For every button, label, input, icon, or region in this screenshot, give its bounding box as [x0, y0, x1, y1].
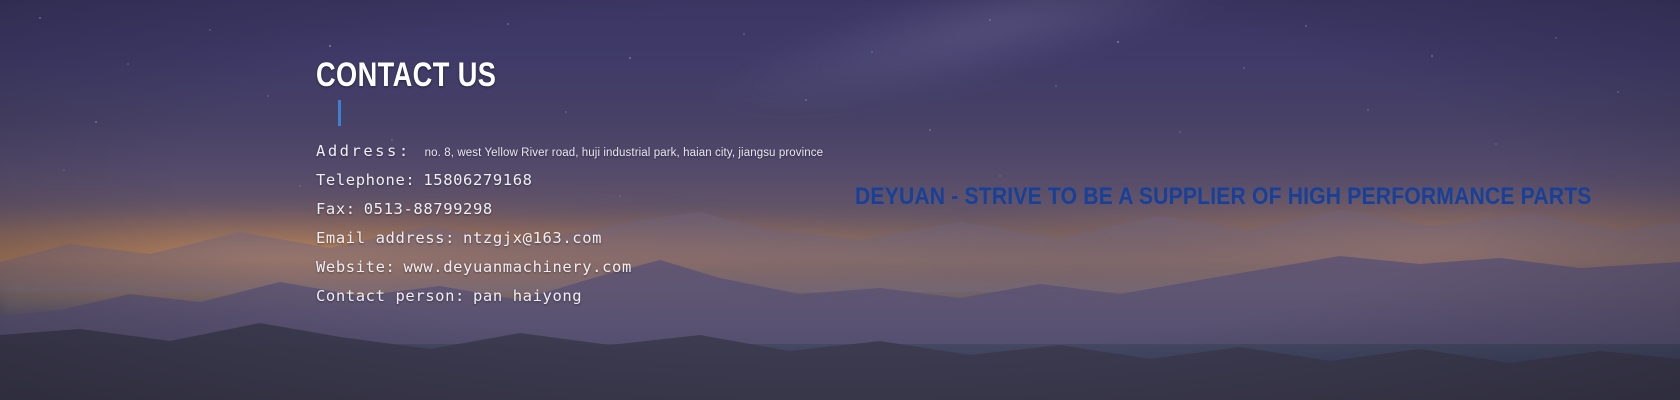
contact-value-website[interactable]: www.deyuanmachinery.com [403, 258, 631, 276]
contact-row-email: Email address: ntzgjx@163.com [316, 229, 823, 258]
contact-row-address: Address: no. 8, west Yellow River road, … [316, 142, 823, 171]
contact-info-list: Address: no. 8, west Yellow River road, … [316, 142, 823, 316]
contact-value-address: no. 8, west Yellow River road, huji indu… [425, 147, 823, 159]
contact-value-fax: 0513-88799298 [364, 200, 493, 218]
contact-row-person: Contact person: pan haiyong [316, 287, 823, 316]
contact-row-website: Website: www.deyuanmachinery.com [316, 258, 823, 287]
contact-label-website: Website: [316, 258, 395, 276]
contact-value-telephone: 15806279168 [423, 171, 532, 189]
contact-label-email: Email address: [316, 229, 455, 247]
contact-label-fax: Fax: [316, 200, 356, 218]
contact-label-telephone: Telephone: [316, 171, 415, 189]
contact-banner: CONTACT US Address: no. 8, west Yellow R… [0, 0, 1680, 400]
company-tagline: DEYUAN - STRIVE TO BE A SUPPLIER OF HIGH… [855, 183, 1592, 211]
contact-label-address: Address: [316, 142, 411, 160]
contact-label-person: Contact person: [316, 287, 465, 305]
contact-row-fax: Fax: 0513-88799298 [316, 200, 823, 229]
contact-value-person: pan haiyong [473, 287, 582, 305]
contact-row-telephone: Telephone: 15806279168 [316, 171, 823, 200]
contact-value-email[interactable]: ntzgjx@163.com [463, 229, 602, 247]
title-accent-bar [338, 100, 341, 126]
page-title: CONTACT US [316, 56, 496, 95]
banner-content: CONTACT US Address: no. 8, west Yellow R… [0, 0, 1680, 400]
